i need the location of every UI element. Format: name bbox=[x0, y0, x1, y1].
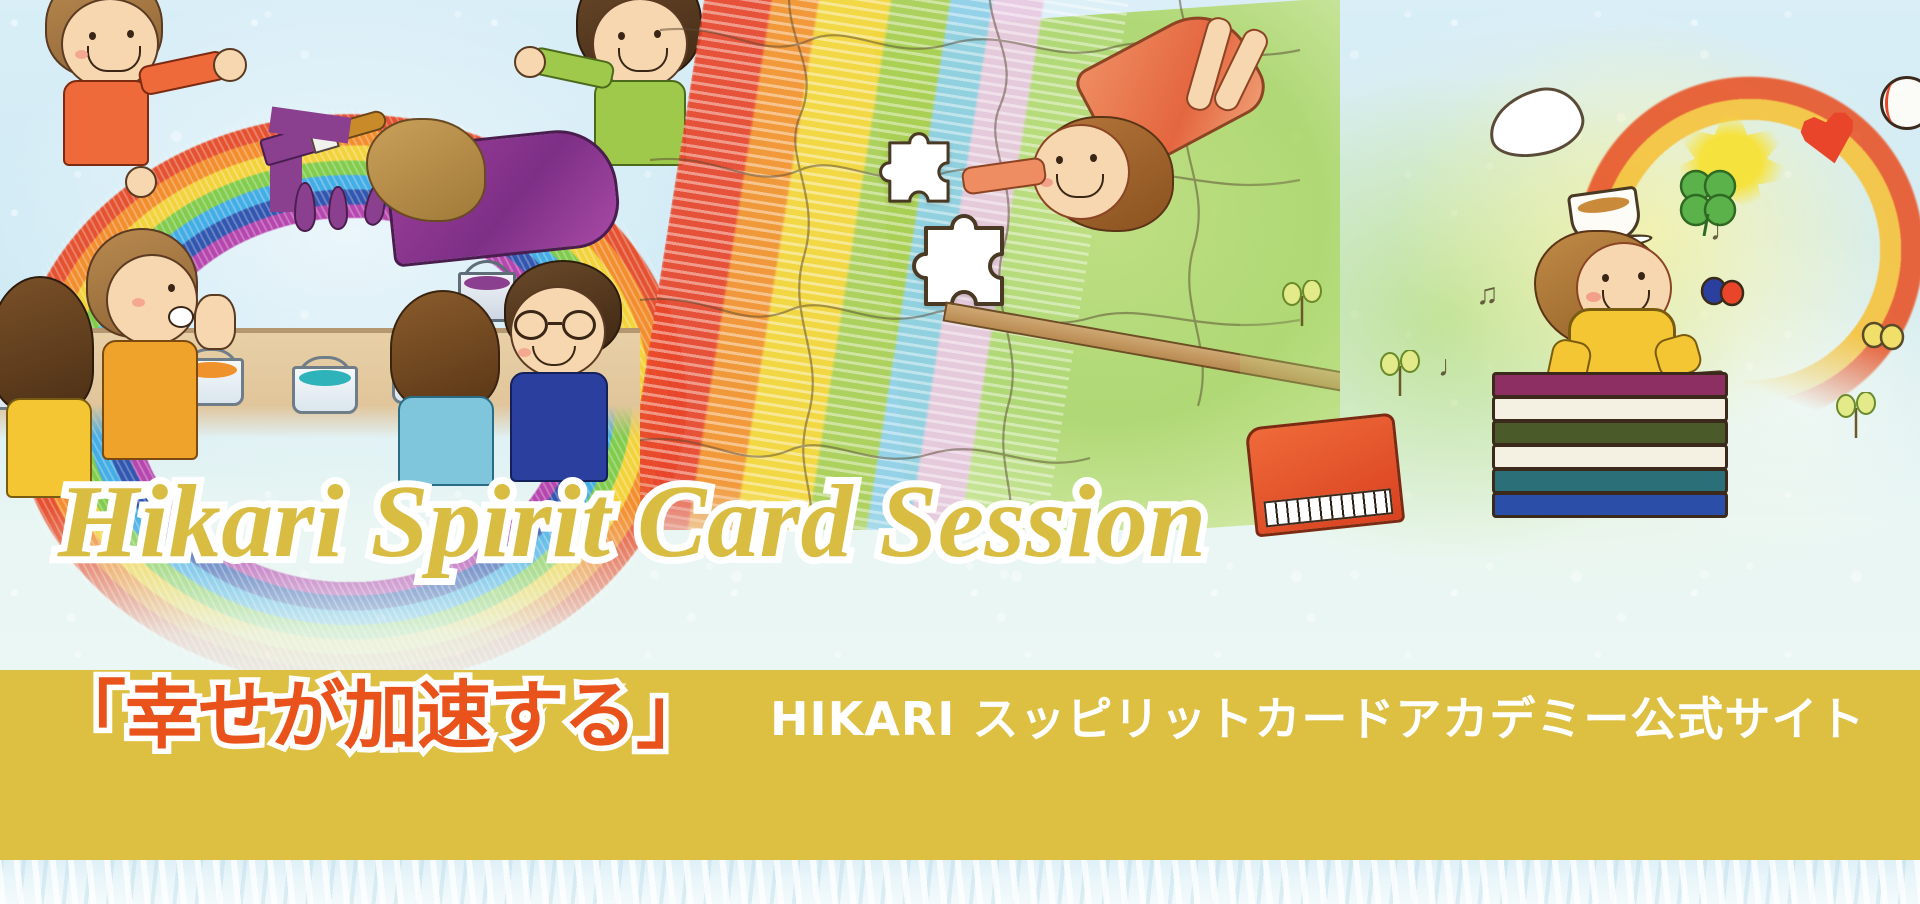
music-note: ♫ bbox=[1476, 280, 1499, 310]
book bbox=[1492, 372, 1728, 398]
book bbox=[1492, 444, 1728, 470]
eye-right bbox=[1090, 154, 1097, 162]
glasses bbox=[514, 310, 602, 340]
torso bbox=[102, 340, 198, 460]
piano-keys bbox=[1263, 488, 1393, 527]
sprout bbox=[1282, 280, 1322, 326]
japanese-tagline: 「幸せが加速する」 bbox=[52, 676, 709, 757]
hand-lower bbox=[125, 166, 157, 198]
book bbox=[1492, 396, 1728, 422]
eye bbox=[168, 284, 175, 292]
face bbox=[1032, 124, 1130, 220]
eye-left bbox=[1602, 274, 1609, 282]
eye-left bbox=[1056, 156, 1063, 164]
eye-left bbox=[89, 32, 96, 40]
hand-clapping bbox=[194, 294, 236, 350]
open-mouth bbox=[168, 306, 194, 328]
music-note: ♩ bbox=[1438, 352, 1468, 382]
cheek bbox=[1586, 292, 1601, 302]
japanese-subtitle: HIKARI スッピリットカードアカデミー公式サイト bbox=[770, 694, 1865, 745]
cheek bbox=[132, 298, 145, 307]
child-watching-clapping bbox=[76, 228, 246, 458]
butterfly bbox=[1860, 320, 1906, 354]
eye-right bbox=[127, 30, 134, 38]
child-on-rainbow-left bbox=[35, 0, 225, 170]
eye-left bbox=[618, 32, 625, 40]
book bbox=[1492, 468, 1728, 494]
cheek bbox=[75, 50, 88, 59]
bottom-texture-strip bbox=[0, 860, 1920, 904]
eye-right bbox=[1638, 272, 1645, 280]
face bbox=[348, 128, 440, 216]
hand bbox=[514, 46, 546, 78]
site-header-banner: ♫ ♩ ♪ ♩ bbox=[0, 0, 1920, 904]
reading-girl-scene: ♫ ♩ ♪ ♩ bbox=[1240, 0, 1920, 580]
coffee bbox=[1577, 195, 1630, 216]
hair bbox=[390, 290, 500, 410]
hand bbox=[213, 48, 247, 82]
paint-teal bbox=[299, 370, 351, 386]
book bbox=[1492, 492, 1728, 518]
sprout bbox=[1836, 392, 1876, 438]
stack-of-books bbox=[1492, 372, 1752, 522]
page-title: Hikari Spirit Card Session bbox=[58, 466, 1207, 578]
book bbox=[1492, 420, 1728, 446]
toy-piano bbox=[1245, 412, 1406, 537]
torso bbox=[63, 80, 149, 166]
cheek bbox=[518, 348, 531, 357]
child-with-glasses bbox=[488, 260, 648, 460]
sprout bbox=[1380, 350, 1420, 396]
white-puzzle-piece-small bbox=[876, 126, 968, 218]
paint-drip bbox=[294, 182, 316, 232]
paint-drip bbox=[328, 186, 348, 230]
face bbox=[106, 254, 198, 346]
paint-bucket-on-table bbox=[292, 356, 358, 414]
